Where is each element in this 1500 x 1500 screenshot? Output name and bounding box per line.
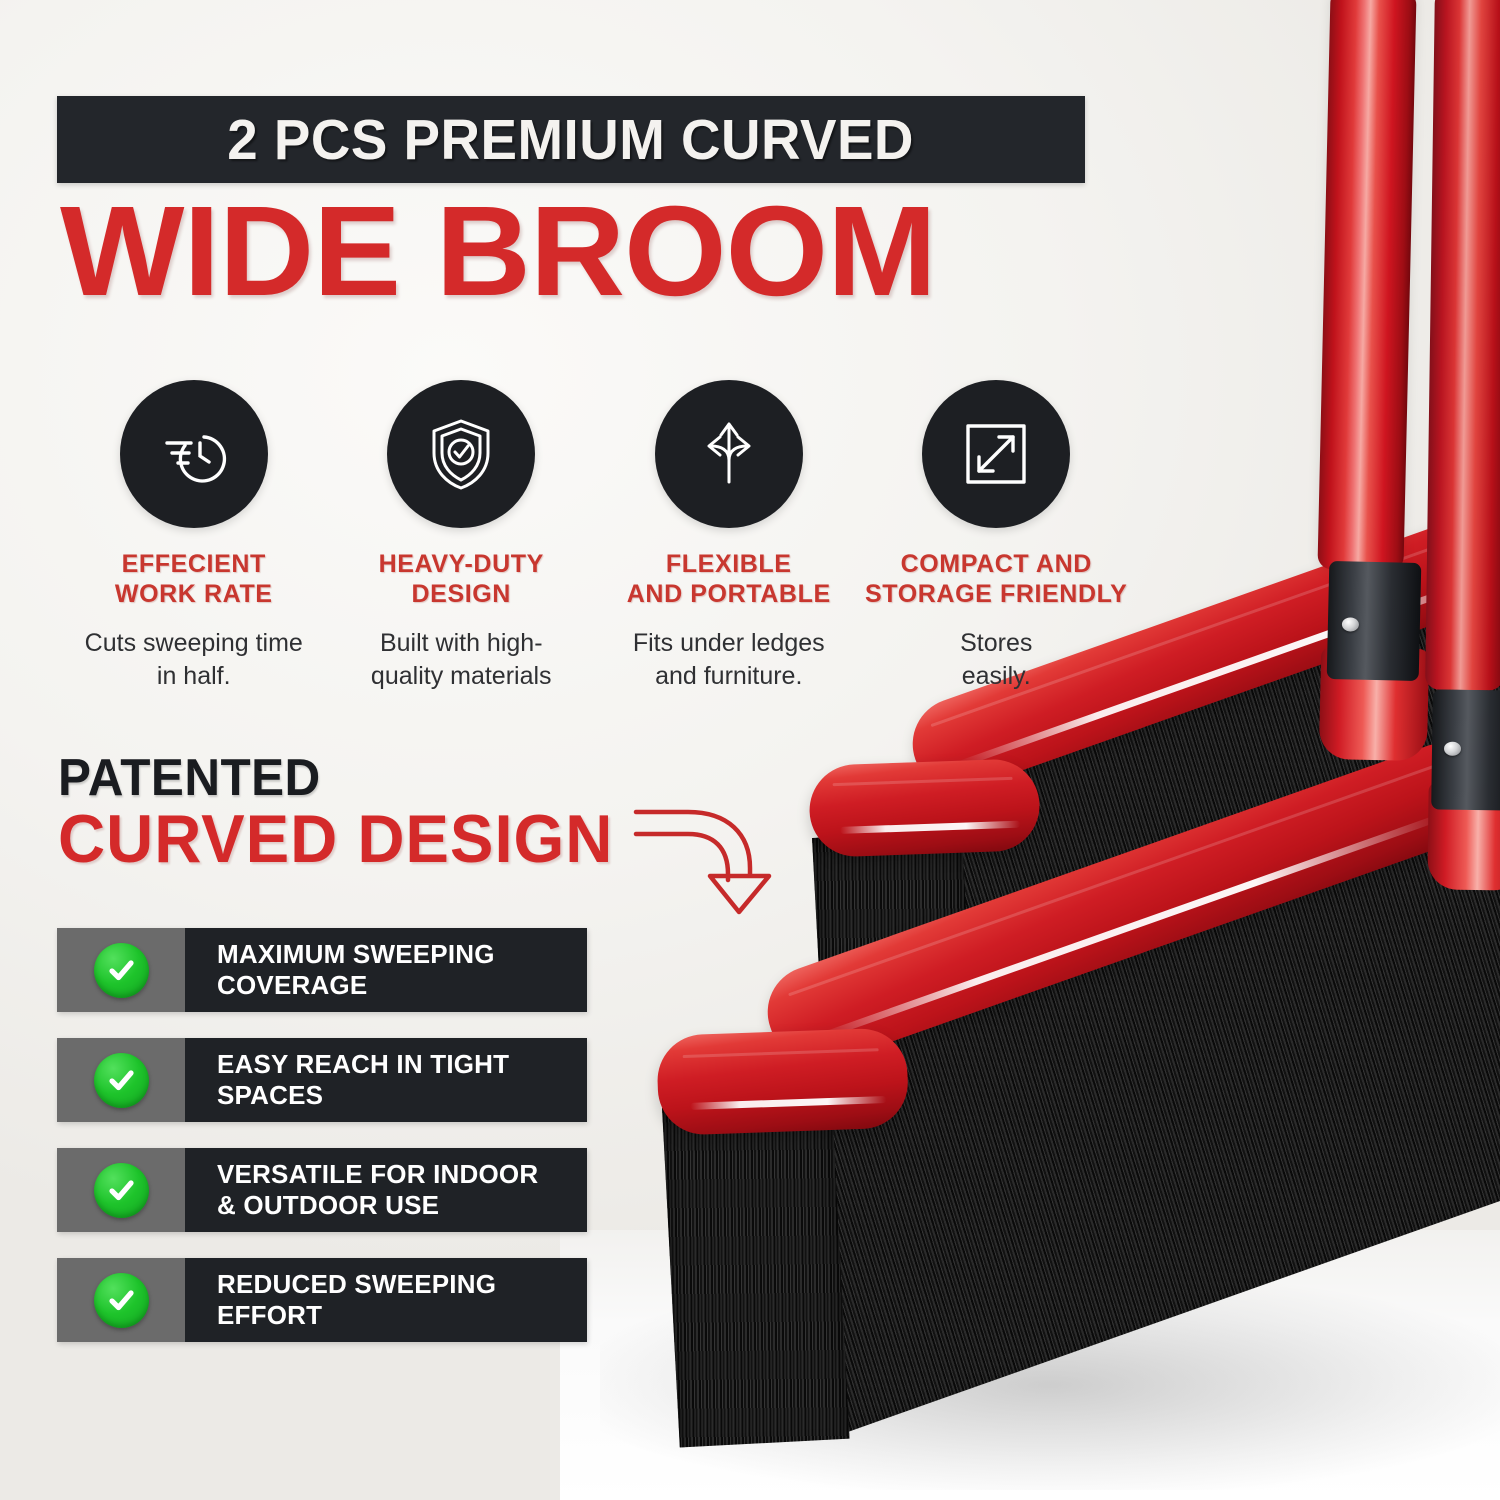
checklist-icon-cell [57,1038,185,1122]
curved-design-label: CURVED DESIGN [58,800,613,878]
feature-item-compact: COMPACT AND STORAGE FRIENDLY Stores easi… [863,380,1131,692]
curved-arrow-icon [632,790,822,920]
checklist-item: REDUCED SWEEPING EFFORT [57,1258,587,1342]
header-banner: 2 PCS PREMIUM CURVED [57,96,1085,183]
check-circle-icon [94,1163,149,1218]
checklist-icon-cell [57,1258,185,1342]
checklist-text-cell: MAXIMUM SWEEPING COVERAGE [185,928,587,1012]
feature-title: EFFECIENT WORK RATE [115,550,273,609]
checklist-label: VERSATILE FOR INDOOR & OUTDOOR USE [217,1159,538,1221]
check-circle-icon [94,943,149,998]
check-circle-icon [94,1273,149,1328]
collar-rivet-front [1342,617,1359,631]
benefits-checklist: MAXIMUM SWEEPING COVERAGE EASY REACH IN … [57,928,587,1368]
product-infographic: 2 PCS PREMIUM CURVED WIDE BROOM EFFECIEN… [0,0,1500,1500]
handle-collar-back [1431,689,1500,810]
checklist-item: EASY REACH IN TIGHT SPACES [57,1038,587,1122]
head-cap-groove-front [683,1048,879,1058]
feature-list: EFFECIENT WORK RATE Cuts sweeping time i… [60,380,1130,692]
feature-item-heavy-duty: HEAVY-DUTY DESIGN Built with high- quali… [328,380,596,692]
feature-desc: Cuts sweeping time in half. [85,627,303,692]
checklist-label: EASY REACH IN TIGHT SPACES [217,1049,509,1111]
collar-rivet-back [1444,742,1461,756]
feature-desc: Built with high- quality materials [371,627,552,692]
page-title: WIDE BROOM [60,188,1152,316]
broom-head-cap-front [656,1027,909,1136]
checklist-text-cell: VERSATILE FOR INDOOR & OUTDOOR USE [185,1148,587,1232]
three-way-arrow-icon [655,380,803,528]
checklist-item: VERSATILE FOR INDOOR & OUTDOOR USE [57,1148,587,1232]
checklist-item: MAXIMUM SWEEPING COVERAGE [57,928,587,1012]
feature-title: HEAVY-DUTY DESIGN [379,550,544,609]
shield-check-icon [387,380,535,528]
broom-handle-back [1425,0,1500,691]
head-cap-groove-back [833,777,1013,786]
expand-arrow-icon [922,380,1070,528]
feature-item-flexible: FLEXIBLE AND PORTABLE Fits under ledges … [595,380,863,692]
checklist-text-cell: EASY REACH IN TIGHT SPACES [185,1038,587,1122]
header-banner-text: 2 PCS PREMIUM CURVED [228,107,915,173]
handle-collar-front [1327,561,1422,681]
head-cap-gloss-front [690,1096,886,1110]
feature-desc: Stores easily. [960,627,1032,692]
broom-head-cap-back [808,758,1041,858]
feature-title: COMPACT AND STORAGE FRIENDLY [865,550,1127,609]
check-circle-icon [94,1053,149,1108]
broom-handle-front [1317,0,1416,571]
checklist-icon-cell [57,1148,185,1232]
head-cap-gloss-back [840,821,1020,834]
checklist-label: MAXIMUM SWEEPING COVERAGE [217,939,495,1001]
checklist-label: REDUCED SWEEPING EFFORT [217,1269,496,1331]
checklist-icon-cell [57,928,185,1012]
feature-title: FLEXIBLE AND PORTABLE [627,550,831,609]
checklist-text-cell: REDUCED SWEEPING EFFORT [185,1258,587,1342]
patented-label: PATENTED [58,748,321,808]
bristles-front-wing [662,1099,850,1447]
feature-desc: Fits under ledges and furniture. [633,627,825,692]
speed-clock-icon [120,380,268,528]
feature-item-efficient: EFFECIENT WORK RATE Cuts sweeping time i… [60,380,328,692]
